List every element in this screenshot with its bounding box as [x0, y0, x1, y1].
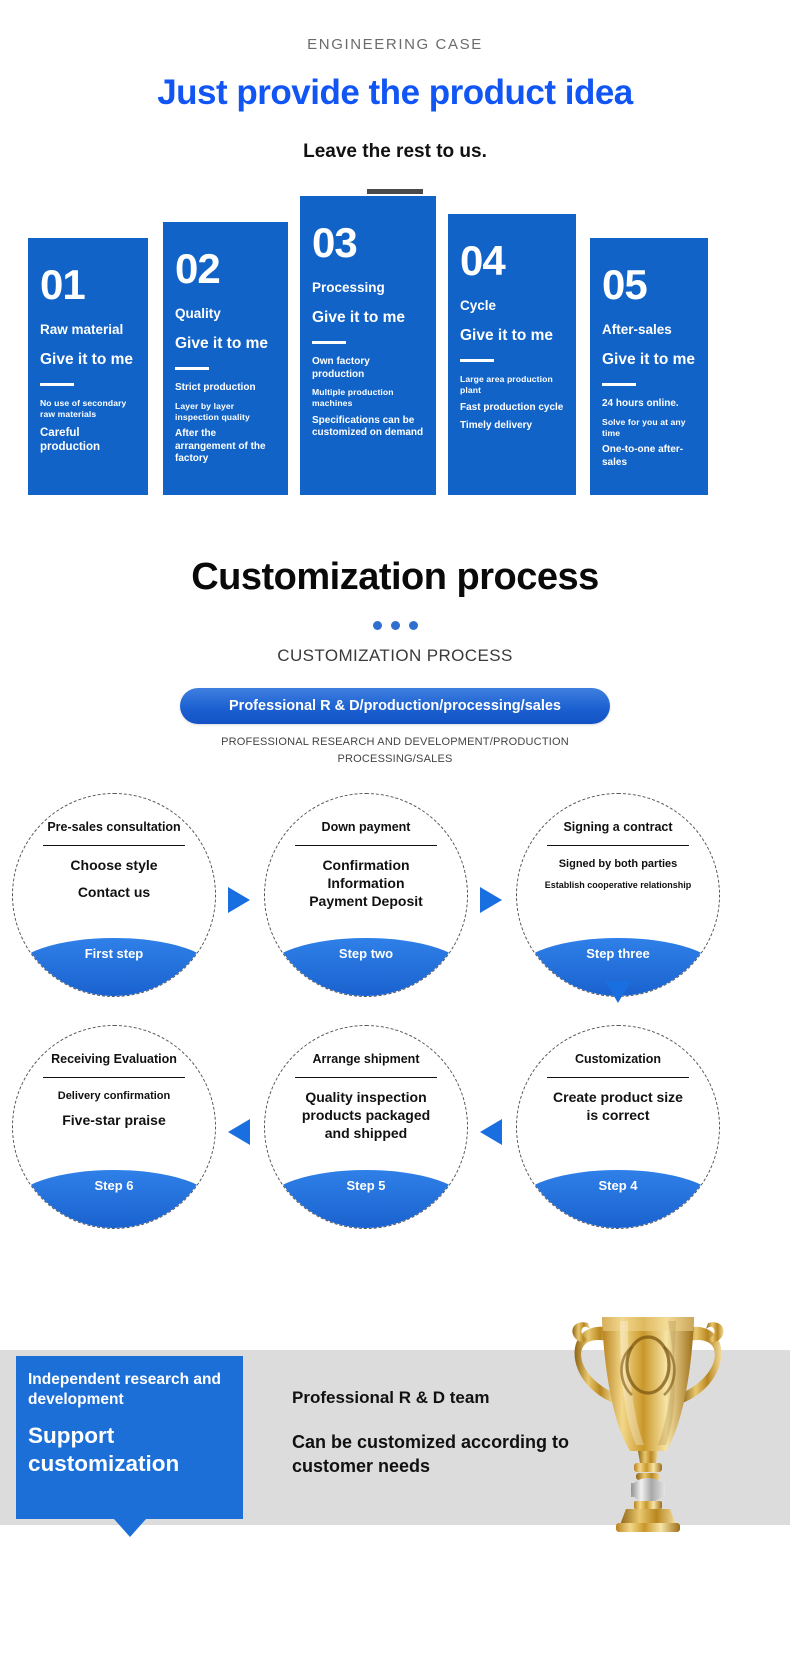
feature-card-04[interactable]: 04 Cycle Give it to me Large area produc… [448, 214, 576, 495]
process-step-5[interactable]: Arrange shipment Quality inspection prod… [264, 1025, 468, 1229]
step-body-line: Information [309, 875, 423, 893]
card-bullet-2: Fast production cycle [460, 402, 564, 415]
process-step-3[interactable]: Signing a contract Signed by both partie… [516, 793, 720, 997]
card-divider [40, 383, 74, 386]
step-divider [43, 845, 185, 847]
card-bullet-1: Large area production plant [460, 374, 564, 395]
card-bullet-2: Layer by layer inspection quality [175, 401, 276, 422]
feature-card-01[interactable]: 01 Raw material Give it to me No use of … [28, 238, 148, 495]
card-bullet-1: Strict production [175, 382, 276, 395]
process-flow: Pre-sales consultation Choose style Cont… [0, 785, 790, 1255]
step-body: Delivery confirmation Five-star praise [58, 1089, 170, 1130]
step-body-line: Delivery confirmation [58, 1089, 170, 1103]
card-bullet-3: Specifications can be customized on dema… [312, 415, 424, 440]
card-bullet-1: 24 hours online. [602, 398, 696, 411]
footer-banner: Independent research and development Sup… [0, 1350, 790, 1525]
process-step-2[interactable]: Down payment Confirmation Information Pa… [264, 793, 468, 997]
step-heading: Receiving Evaluation [51, 1052, 177, 1068]
card-bullet-3: One-to-one after-sales [602, 444, 696, 469]
card-bullets: Strict production Layer by layer inspect… [175, 382, 276, 465]
process-step-4[interactable]: Customization Create product size is cor… [516, 1025, 720, 1229]
step-body: Confirmation Information Payment Deposit [309, 857, 423, 911]
card-category: After-sales [602, 322, 696, 339]
step-body-line: Signed by both parties [545, 857, 692, 871]
card-bullets: No use of secondary raw materials Carefu… [40, 398, 136, 454]
card-tagline: Give it to me [40, 351, 136, 370]
card-tagline: Give it to me [602, 351, 696, 370]
dot-icon [373, 621, 382, 630]
dot-icon [391, 621, 400, 630]
step-divider [295, 845, 437, 847]
card-bullet-2: Multiple production machines [312, 387, 424, 408]
process-step-1[interactable]: Pre-sales consultation Choose style Cont… [12, 793, 216, 997]
card-bullets: 24 hours online. Solve for you at any ti… [602, 398, 696, 469]
card-category: Quality [175, 306, 276, 323]
card-category: Raw material [40, 322, 136, 339]
section-subtitle: CUSTOMIZATION PROCESS [0, 646, 790, 666]
card-divider [312, 341, 346, 344]
card-bullet-2: Solve for you at any time [602, 417, 696, 438]
flow-arrow-left-icon [228, 1119, 250, 1145]
step-body: Signed by both parties Establish coopera… [545, 857, 692, 892]
page-title: Just provide the product idea [0, 73, 790, 113]
card-tagline: Give it to me [312, 309, 424, 328]
flow-arrow-down-icon [605, 981, 631, 1003]
step-body-line: Contact us [70, 884, 157, 902]
hero-subtitle: Leave the rest to us. [0, 141, 790, 163]
card-bullet-3: Timely delivery [460, 420, 564, 433]
step-divider [43, 1077, 185, 1079]
step-heading: Signing a contract [563, 820, 672, 836]
step-heading: Arrange shipment [313, 1052, 420, 1068]
step-body: Choose style Contact us [70, 857, 157, 902]
step-body-line: Payment Deposit [309, 893, 423, 911]
feature-card-03[interactable]: 03 Processing Give it to me Own factory … [300, 196, 436, 495]
card-bullets: Large area production plant Fast product… [460, 374, 564, 432]
step-body-line: Choose style [70, 857, 157, 875]
card-divider [460, 359, 494, 362]
step-body-line: Quality inspection [302, 1089, 430, 1107]
dot-icon [409, 621, 418, 630]
card-number: 03 [312, 196, 424, 264]
card-number: 01 [40, 238, 136, 306]
step-divider [547, 845, 689, 847]
banner-notch-icon [114, 1519, 146, 1537]
card-bullets: Own factory production Multiple producti… [312, 356, 424, 439]
feature-card-02[interactable]: 02 Quality Give it to me Strict producti… [163, 222, 288, 495]
step-body-line: is correct [553, 1107, 683, 1125]
flow-arrow-right-icon [480, 887, 502, 913]
banner-highlight-panel: Independent research and development Sup… [16, 1356, 243, 1519]
flow-arrow-left-icon [480, 1119, 502, 1145]
step-body: Quality inspection products packaged and… [302, 1089, 430, 1143]
card-bullet-3: After the arrangement of the factory [175, 428, 276, 466]
card-number: 04 [460, 214, 564, 282]
card-bullet-1: Own factory production [312, 356, 424, 381]
feature-card-row: 01 Raw material Give it to me No use of … [0, 212, 790, 522]
step-body-line: Confirmation [309, 857, 423, 875]
dots-ornament [0, 621, 790, 630]
banner-left-top-text: Independent research and development [28, 1370, 231, 1410]
process-step-6[interactable]: Receiving Evaluation Delivery confirmati… [12, 1025, 216, 1229]
step-body-line: products packaged [302, 1107, 430, 1125]
service-pill-caption: PROFESSIONAL RESEARCH AND DEVELOPMENT/PR… [185, 734, 605, 767]
card-divider [602, 383, 636, 386]
service-pill-badge[interactable]: Professional R & D/production/processing… [180, 688, 610, 724]
feature-card-05[interactable]: 05 After-sales Give it to me 24 hours on… [590, 238, 708, 495]
step-body-line: Establish cooperative relationship [545, 880, 692, 892]
card-bullet-1: No use of secondary raw materials [40, 398, 136, 419]
card-category: Processing [312, 280, 424, 297]
customization-section-header: Customization process CUSTOMIZATION PROC… [0, 556, 790, 767]
step-body-line: and shipped [302, 1125, 430, 1143]
card-bullet-2: Careful production [40, 426, 136, 455]
step-divider [295, 1077, 437, 1079]
card-number: 02 [175, 222, 276, 290]
step-body-line: Create product size [553, 1089, 683, 1107]
step-heading: Pre-sales consultation [47, 820, 180, 836]
banner-left-bottom-text: Support customization [28, 1422, 231, 1478]
card-tagline: Give it to me [175, 335, 276, 354]
card-category: Cycle [460, 298, 564, 315]
trophy-icon [548, 1287, 748, 1532]
card-divider [175, 367, 209, 370]
step-divider [547, 1077, 689, 1079]
section-title: Customization process [0, 556, 790, 599]
step-heading: Customization [575, 1052, 661, 1068]
card-number: 05 [602, 238, 696, 306]
card-tagline: Give it to me [460, 327, 564, 346]
step-body: Create product size is correct [553, 1089, 683, 1125]
step-heading: Down payment [322, 820, 411, 836]
flow-arrow-right-icon [228, 887, 250, 913]
hero-divider [367, 189, 423, 194]
step-body-line: Five-star praise [58, 1112, 170, 1130]
hero-section: ENGINEERING CASE Just provide the produc… [0, 0, 790, 194]
hero-eyebrow: ENGINEERING CASE [0, 36, 790, 53]
